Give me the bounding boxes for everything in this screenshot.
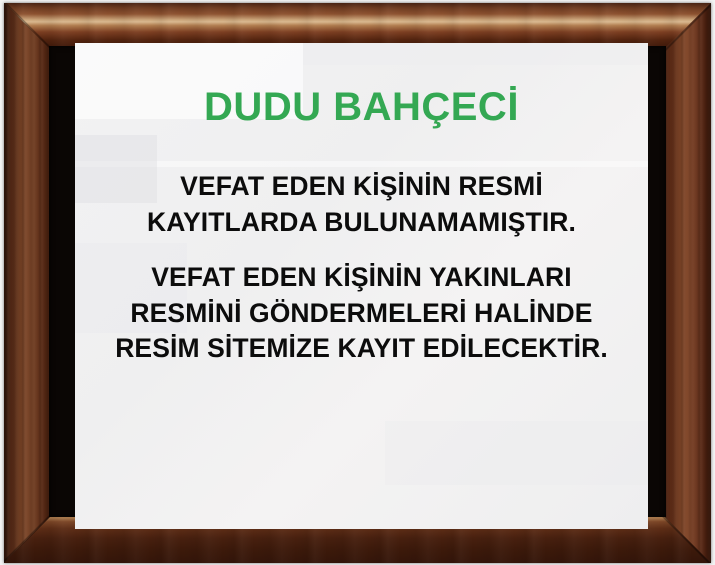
notice-line: RESİM SİTEMİZE KAYIT EDİLECEKTİR. [83, 331, 640, 367]
notice-line: KAYITLARDA BULUNAMAMIŞTIR. [83, 205, 640, 241]
memorial-notice-card: DUDU BAHÇECİ VEFAT EDEN KİŞİNİN RESMİ KA… [75, 43, 648, 529]
picture-frame: DUDU BAHÇECİ VEFAT EDEN KİŞİNİN RESMİ KA… [4, 3, 711, 563]
notice-paragraph-no-photo: VEFAT EDEN KİŞİNİN RESMİ KAYITLARDA BULU… [83, 169, 640, 240]
deceased-name-title: DUDU BAHÇECİ [75, 87, 648, 127]
frame-rail-left [4, 3, 51, 563]
memorial-frame-image: DUDU BAHÇECİ VEFAT EDEN KİŞİNİN RESMİ KA… [0, 0, 715, 565]
frame-rail-right [663, 3, 711, 563]
notice-line: VEFAT EDEN KİŞİNİN YAKINLARI [83, 260, 640, 296]
notice-body: VEFAT EDEN KİŞİNİN RESMİ KAYITLARDA BULU… [83, 169, 640, 367]
notice-line: RESMİNİ GÖNDERMELERİ HALİNDE [83, 296, 640, 332]
notice-paragraph-submit-photo: VEFAT EDEN KİŞİNİN YAKINLARI RESMİNİ GÖN… [83, 260, 640, 367]
notice-line: VEFAT EDEN KİŞİNİN RESMİ [83, 169, 640, 205]
